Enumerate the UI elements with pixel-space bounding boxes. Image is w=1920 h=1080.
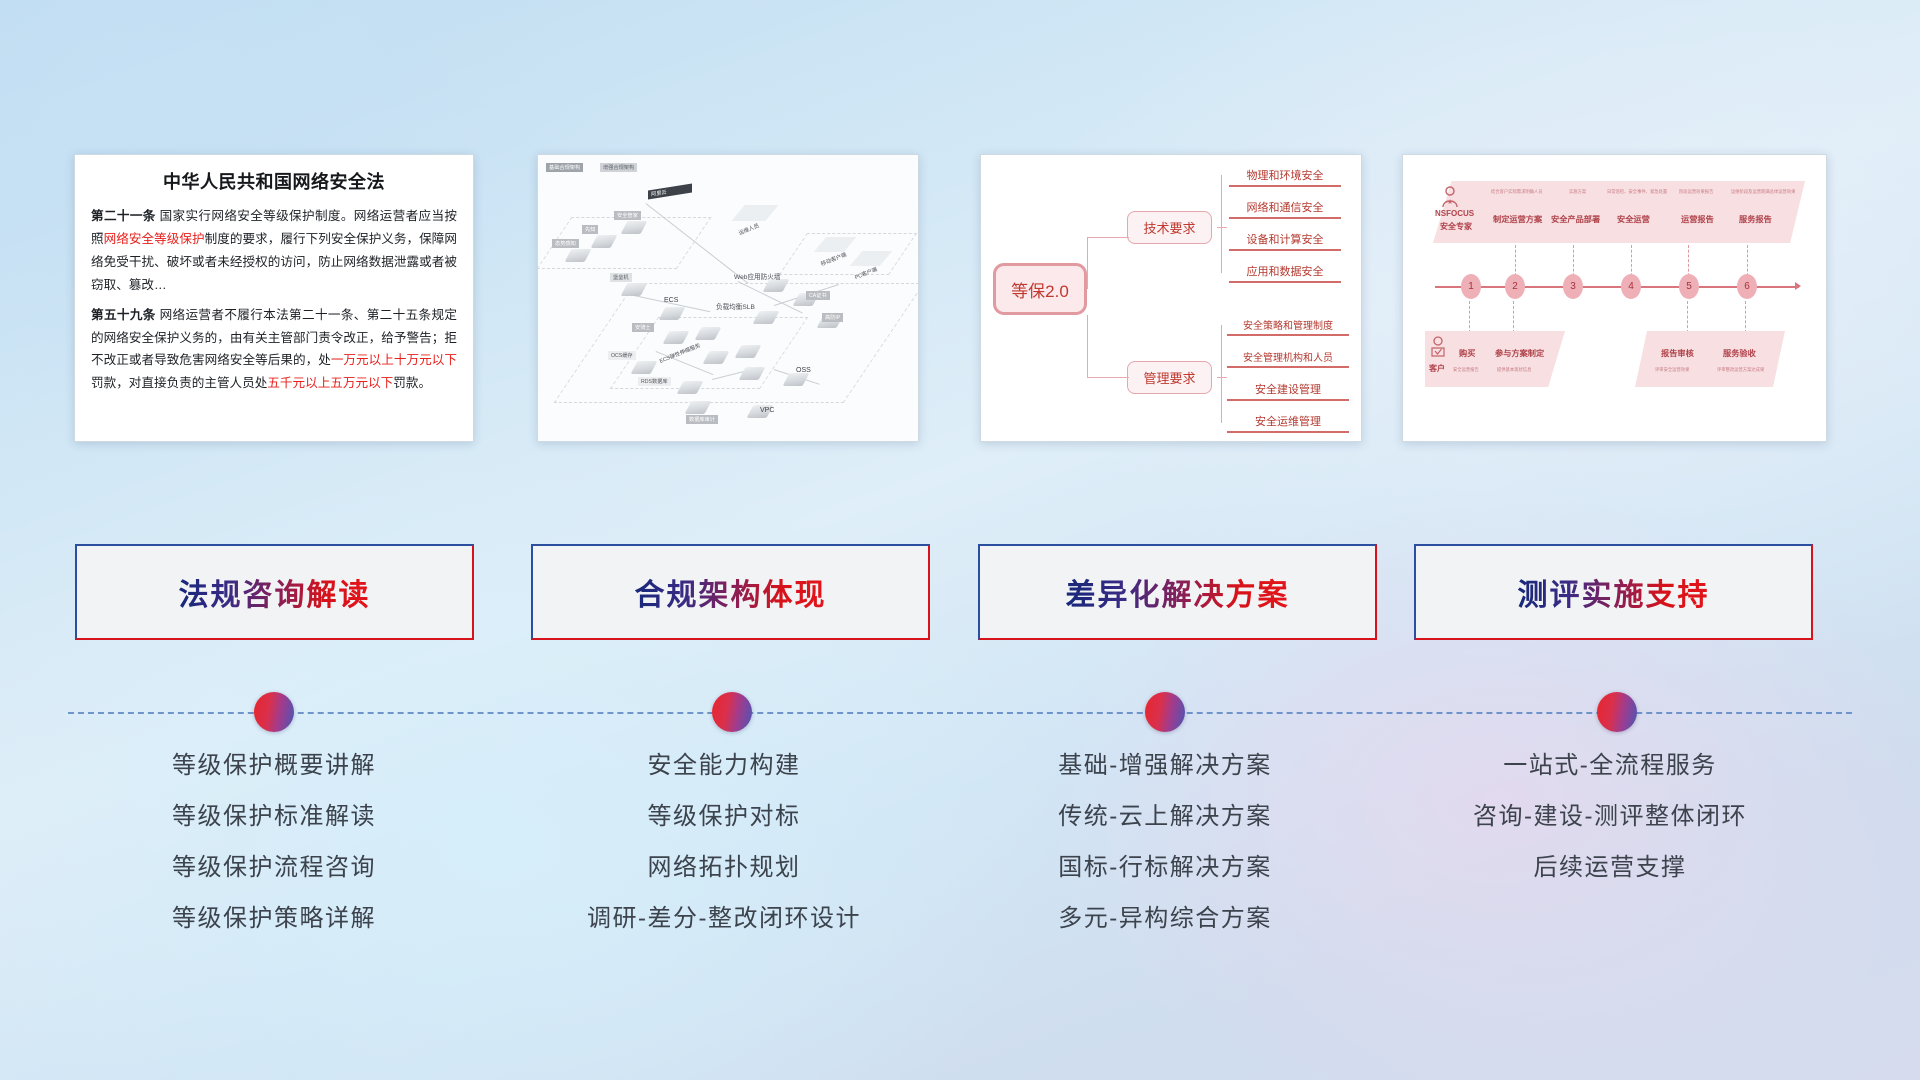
list-item: 国标-行标解决方案 [945,842,1385,893]
list-item: 咨询-建设-测评整体闭环 [1390,791,1830,842]
law-title: 中华人民共和国网络安全法 [91,168,457,194]
law-run-highlight: 五千元以上五万元以下 [267,376,393,390]
person-star-icon: ★ [1439,185,1461,209]
headline-box-2[interactable]: 合规架构体现 [531,544,930,640]
mindmap-connector [1087,315,1088,377]
flow-top-sub: 运维阶段及运营期满总体运营效果 [1731,189,1795,195]
list-item: 等级保护流程咨询 [54,842,494,893]
mindmap-leaf: 安全管理机构和人员 [1227,349,1349,368]
person-check-icon [1429,335,1447,361]
list-item: 多元-异构综合方案 [945,893,1385,944]
mindmap-connector [1221,325,1222,423]
list-item: 网络拓扑规划 [504,842,944,893]
mindmap-leaf: 安全策略和管理制度 [1227,317,1349,336]
headline-box-3[interactable]: 差异化解决方案 [978,544,1377,640]
list-item: 调研-差分-整改闭环设计 [504,893,944,944]
mindmap-leaf: 安全建设管理 [1227,381,1349,401]
cloud-node-label: 运维人员 [737,221,760,237]
cloud-node-label: 态势感知 [552,239,579,248]
flow-tick [1745,301,1746,333]
list-item: 后续运营支撑 [1390,842,1830,893]
detail-column-1: 等级保护概要讲解 等级保护标准解读 等级保护流程咨询 等级保护策略详解 [54,740,494,944]
flow-top-label: 服务报告 [1739,213,1772,225]
flow-step-node: 1 [1461,274,1481,299]
list-item: 基础-增强解决方案 [945,740,1385,791]
thumbnail-card-service-flow[interactable]: ★ NSFOCUS 安全专家 结合客户实际需求明确人员 实施方案 日常巡检、安全… [1402,154,1827,442]
detail-list-row: 等级保护概要讲解 等级保护标准解读 等级保护流程咨询 等级保护策略详解 安全能力… [0,740,1920,1020]
flow-top-label: 运营报告 [1681,213,1714,225]
flow-axis-arrow [1795,282,1801,290]
cloud-node-label: RDS数据库 [638,377,671,386]
cloud-node-label: Web应用防火墙 [734,271,780,281]
law-run-text: 罚款，对直接负责的主管人员处 [91,376,267,390]
mindmap-connector [1087,237,1088,289]
mindmap-diagram: 等保2.0 技术要求 物理和环境安全 网络和通信安全 设备和计算安全 应用和数据… [981,155,1361,441]
thumbnail-card-cloud-architecture[interactable]: 基础合规架构 增强合规架构 阿里云 [537,154,919,442]
cloud-node-label: 安全管家 [614,211,641,220]
cloud-architecture-diagram: 基础合规架构 增强合规架构 阿里云 [538,155,918,441]
flow-bottom-sub: 安全运营报告 [1453,367,1479,373]
mindmap-leaf: 设备和计算安全 [1229,231,1341,251]
flow-top-label: 制定运营方案 [1493,213,1542,225]
flow-bottom-label: 服务验收 [1723,347,1756,359]
headline-label: 合规架构体现 [635,570,827,614]
list-item: 等级保护策略详解 [54,893,494,944]
headline-label: 法规咨询解读 [179,570,371,614]
flow-step-node: 2 [1505,274,1525,299]
timeline-dot-3[interactable] [1145,692,1185,732]
flow-actor-name: NSFOCUS [1435,209,1474,218]
law-run-highlight: 网络安全等级保护 [104,232,205,246]
svg-text:★: ★ [1447,198,1453,206]
flow-top-label: 安全运营 [1617,213,1650,225]
mindmap-leaf: 网络和通信安全 [1229,199,1341,219]
mindmap-center-node: 等保2.0 [993,263,1087,315]
headline-label: 测评实施支持 [1518,570,1710,614]
mindmap-leaf: 物理和环境安全 [1229,167,1341,187]
flow-top-sub: 日常巡检、安全事件、紧急处置 [1607,189,1667,195]
flow-bottom-label: 参与方案制定 [1495,347,1544,359]
law-article-number: 第五十九条 [91,308,156,322]
flow-tick [1469,301,1470,333]
mindmap-branch-management: 管理要求 [1127,361,1212,394]
headline-box-4[interactable]: 测评实施支持 [1414,544,1813,640]
cloud-node-label: OSS [796,367,811,374]
flow-step-node: 3 [1563,274,1583,299]
mindmap-connector [1217,377,1227,378]
detail-column-3: 基础-增强解决方案 传统-云上解决方案 国标-行标解决方案 多元-异构综合方案 [945,740,1385,944]
list-item: 安全能力构建 [504,740,944,791]
flow-step-node: 5 [1679,274,1699,299]
headline-box-1[interactable]: 法规咨询解读 [75,544,474,640]
cloud-tab-enhanced[interactable]: 增强合规架构 [600,163,637,172]
flow-bottom-sub: 评审安全运营效果 [1655,367,1689,373]
headline-label: 差异化解决方案 [1066,570,1290,614]
flow-top-sub: 实施方案 [1569,189,1586,195]
flow-bottom-label: 报告审核 [1661,347,1694,359]
detail-column-2: 安全能力构建 等级保护对标 网络拓扑规划 调研-差分-整改闭环设计 [504,740,944,944]
list-item: 一站式-全流程服务 [1390,740,1830,791]
timeline-dot-1[interactable] [254,692,294,732]
law-run-highlight: 一万元以上十万元以下 [331,353,457,367]
cloud-node-label: 安骑士 [632,323,654,332]
cloud-node-label: CA证书 [806,291,830,300]
list-item: 等级保护对标 [504,791,944,842]
flow-bottom-sub: 提供基本现状信息 [1497,367,1531,373]
slide-canvas: 中华人民共和国网络安全法 第二十一条 国家实行网络安全等级保护制度。网络运营者应… [0,0,1920,1080]
cloud-banner: 阿里云 [648,184,692,200]
thumbnail-card-mindmap[interactable]: 等保2.0 技术要求 物理和环境安全 网络和通信安全 设备和计算安全 应用和数据… [980,154,1362,442]
list-item: 等级保护标准解读 [54,791,494,842]
cloud-plate [731,205,778,221]
timeline-dot-4[interactable] [1597,692,1637,732]
flow-tick [1513,301,1514,333]
cloud-node-label: ECS [664,297,678,304]
mindmap-leaf: 应用和数据安全 [1229,263,1341,283]
timeline-dot-2[interactable] [712,692,752,732]
flow-actor-role: 安全专家 [1440,221,1472,232]
flow-bottom-label: 购买 [1459,347,1475,359]
mindmap-connector [1221,175,1222,273]
cloud-node-label: OCS缓存 [608,351,636,360]
law-article-number: 第二十一条 [91,209,156,223]
flow-top-sub: 阶段运营效果报告 [1679,189,1713,195]
list-item: 传统-云上解决方案 [945,791,1385,842]
cloud-tab-basic[interactable]: 基础合规架构 [546,163,583,172]
detail-column-4: 一站式-全流程服务 咨询-建设-测评整体闭环 后续运营支撑 [1390,740,1830,893]
cloud-node-label: 负载均衡SLB [716,301,755,311]
flow-top-sub: 结合客户实际需求明确人员 [1491,189,1543,195]
law-paragraph: 第五十九条 网络运营者不履行本法第二十一条、第二十五条规定的网络安全保护义务的，… [91,304,457,396]
flow-step-node: 6 [1737,274,1757,299]
flow-bottom-sub: 评审整改运营方案达成果 [1717,367,1764,373]
timeline [0,686,1920,740]
timeline-dashed-line [68,712,1852,714]
flow-step-node: 4 [1621,274,1641,299]
mindmap-connector [1087,237,1129,238]
service-flow-diagram: ★ NSFOCUS 安全专家 结合客户实际需求明确人员 实施方案 日常巡检、安全… [1403,155,1826,441]
list-item: 等级保护概要讲解 [54,740,494,791]
cloud-node-label: 高防IP [822,313,843,322]
cloud-node-label: VPC [760,407,774,414]
thumbnail-card-law[interactable]: 中华人民共和国网络安全法 第二十一条 国家实行网络安全等级保护制度。网络运营者应… [74,154,474,442]
mindmap-connector [1087,377,1129,378]
cloud-node-label: 数据库审计 [686,415,718,424]
flow-tick [1687,301,1688,333]
law-run-text: 罚款。 [393,376,431,390]
mindmap-branch-technical: 技术要求 [1127,211,1212,244]
mindmap-connector [1217,227,1227,228]
mindmap-leaf: 安全运维管理 [1227,413,1349,433]
headline-row: 法规咨询解读 合规架构体现 差异化解决方案 测评实施支持 [0,544,1920,656]
cloud-node-label: 堡垒机 [610,273,632,282]
law-paragraph: 第二十一条 国家实行网络安全等级保护制度。网络运营者应当按照网络安全等级保护制度… [91,205,457,297]
thumbnail-row: 中华人民共和国网络安全法 第二十一条 国家实行网络安全等级保护制度。网络运营者应… [0,148,1920,448]
flow-actor-name: 客户 [1429,363,1445,374]
flow-bottom-band-right [1635,331,1785,387]
cloud-node-label: 先知 [582,225,598,234]
flow-top-label: 安全产品部署 [1551,213,1600,225]
